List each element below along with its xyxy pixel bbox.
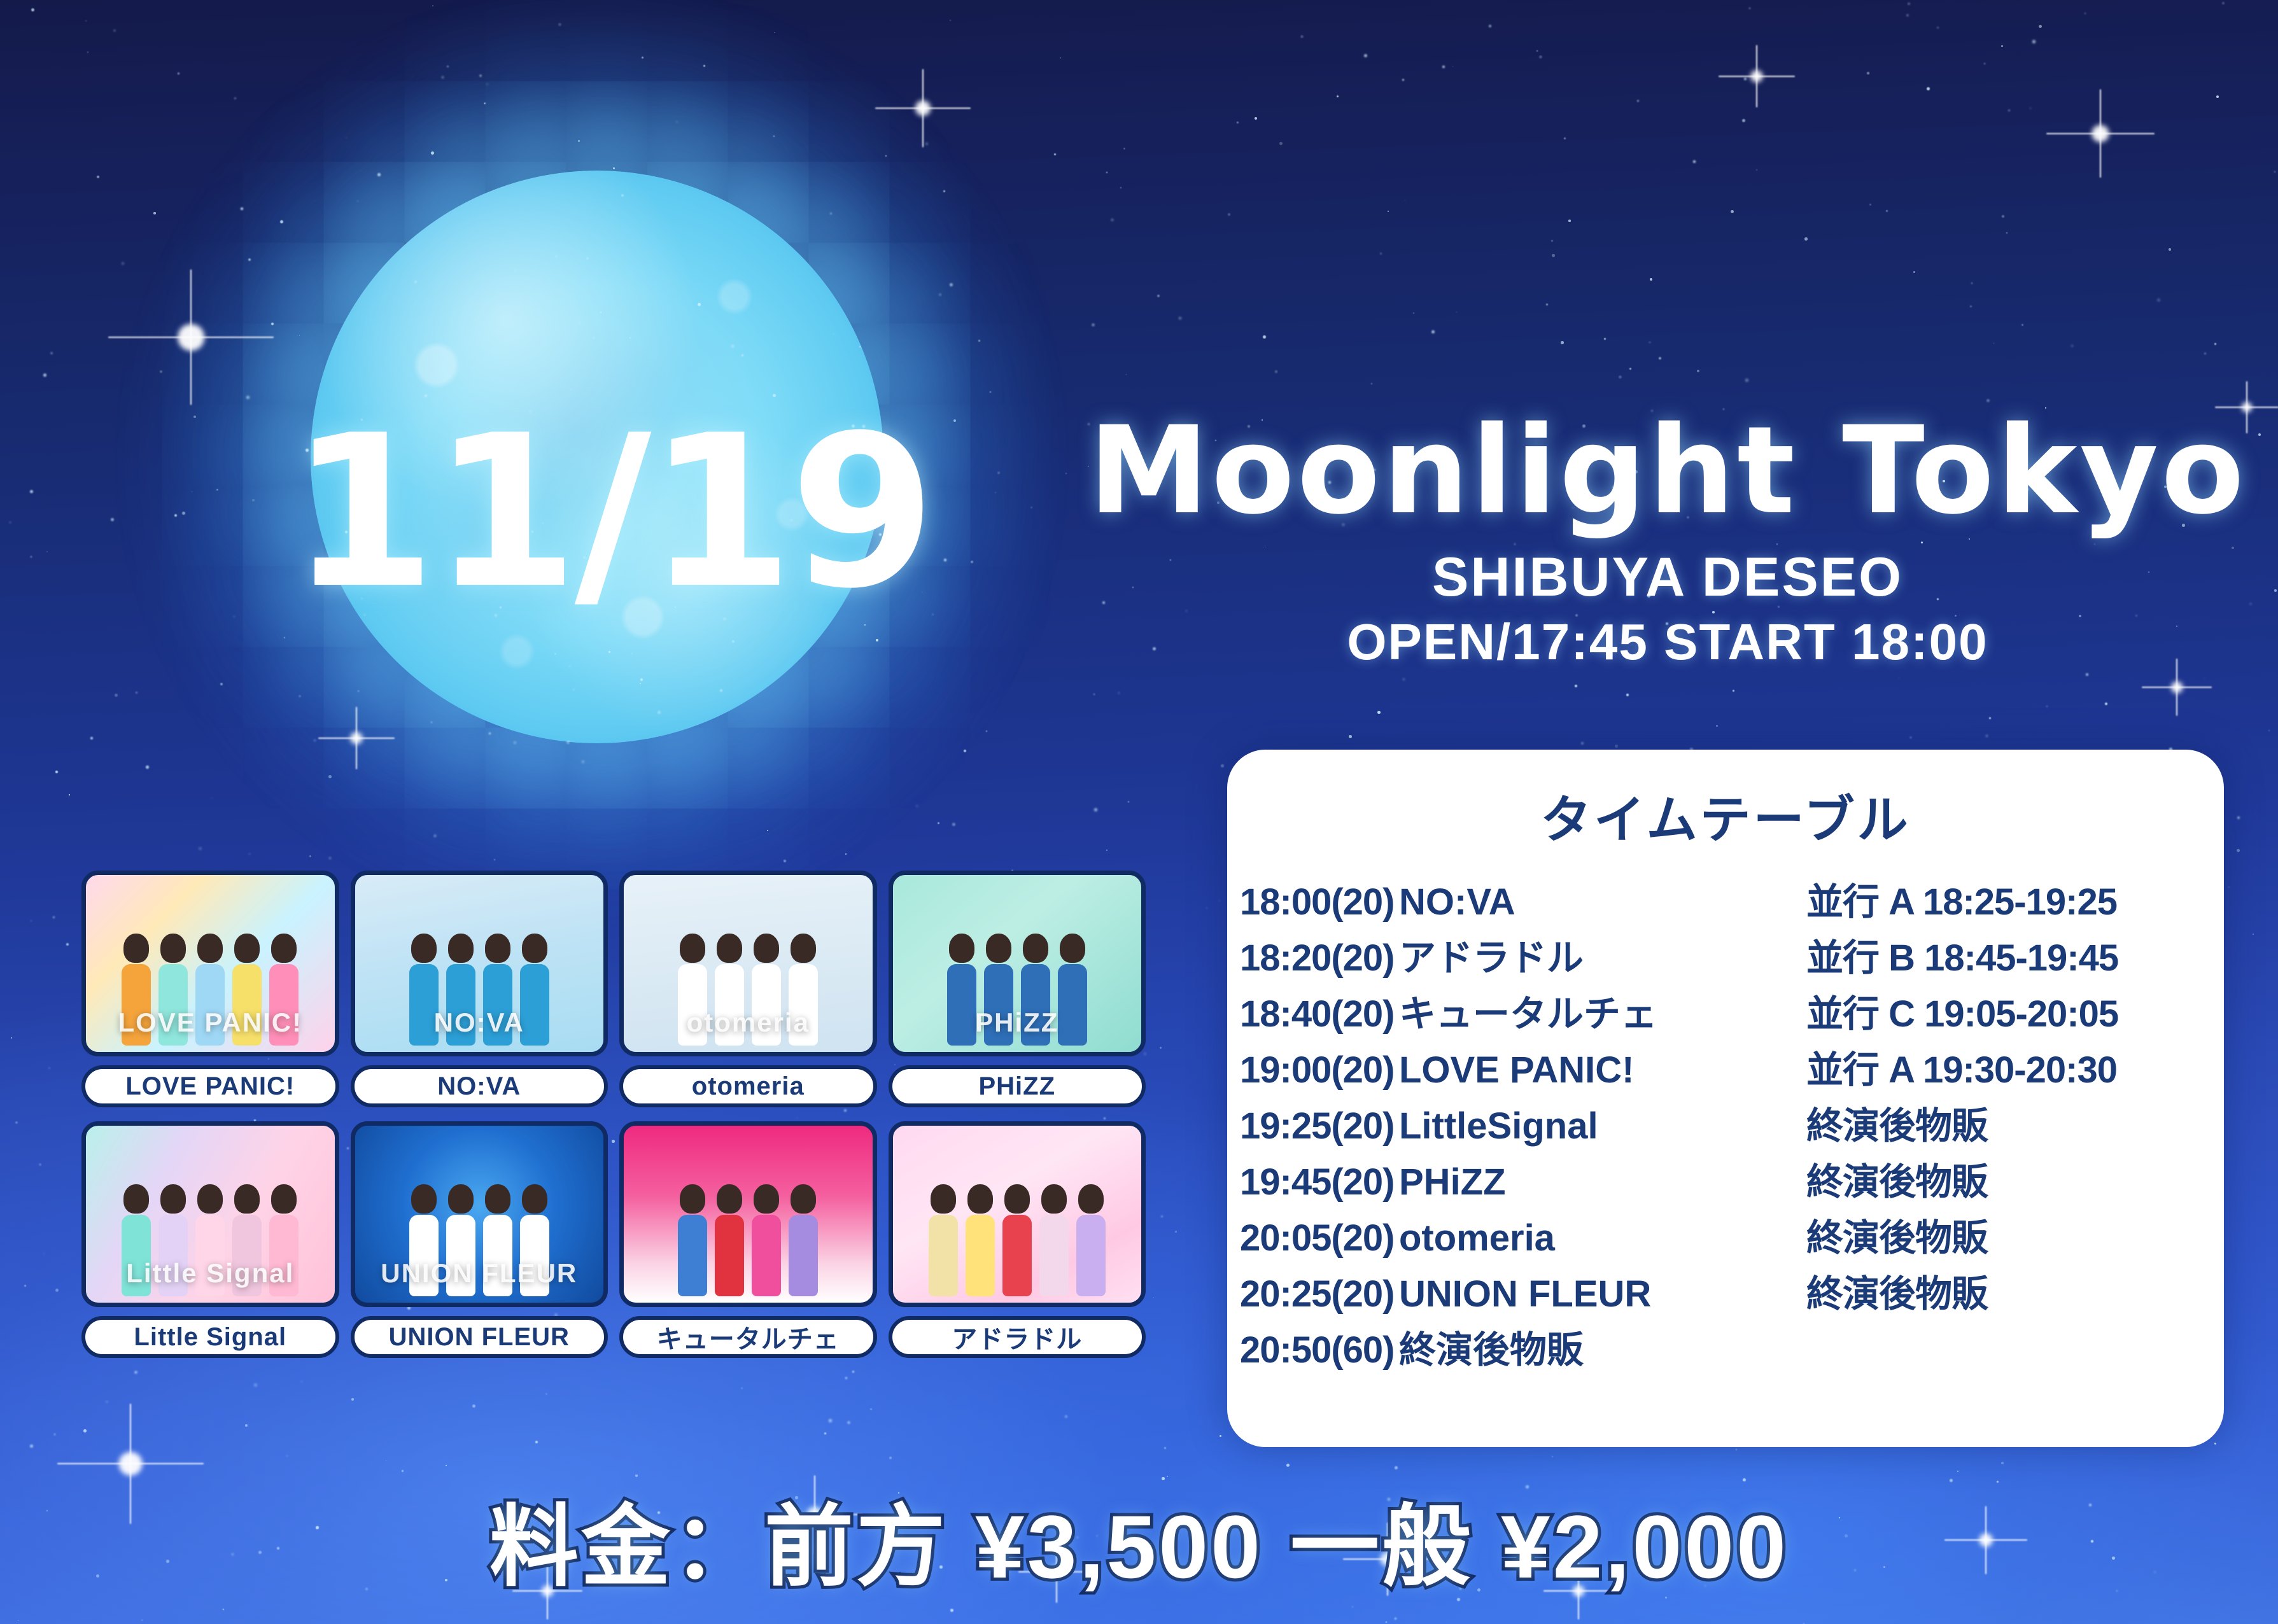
timetable-act: PHiZZ [1399,1161,1806,1203]
artist-logo: otomeria [624,1007,873,1052]
timetable-act: UNION FLEUR [1399,1273,1806,1315]
timetable-note: 並行 A 18:25-19:25 [1806,872,2224,925]
artist-photo: PHiZZ [889,871,1146,1056]
member-figure [1039,1184,1069,1296]
timetable-note: 並行 C 19:05-20:05 [1806,984,2224,1037]
artist-card: PHiZZPHiZZ [889,871,1146,1107]
timetable-act: LOVE PANIC! [1399,1049,1806,1091]
artist-name-label: LOVE PANIC! [81,1065,339,1107]
artist-card: Little SignalLittle Signal [81,1121,339,1358]
artist-card: アドラドル [889,1121,1146,1358]
artist-grid: LOVE PANIC!LOVE PANIC!NO:VANO:VAotomeria… [81,871,1146,1358]
price-line: 料金：前方 ¥3,500 一般 ¥2,000 [0,1475,2278,1604]
timetable-time: 20:50(60) [1240,1329,1399,1371]
timetable-note: 終演後物販 [1806,1264,2224,1317]
timetable-act: アドラドル [1399,928,1806,981]
timetable-time: 18:00(20) [1240,881,1399,923]
artist-members [893,1184,1142,1296]
timetable-act: NO:VA [1399,881,1806,923]
timetable-heading: タイムテーブル [1227,779,2224,853]
timetable-row: 18:00(20)NO:VA並行 A 18:25-19:25 [1227,872,2224,928]
artist-card: otomeriaotomeria [619,871,877,1107]
artist-members [624,1184,873,1296]
member-figure [715,1184,744,1296]
artist-photo: NO:VA [351,871,608,1056]
artist-card: LOVE PANIC!LOVE PANIC! [81,871,339,1107]
timetable-note: 終演後物販 [1806,1152,2224,1205]
event-date: 11/19 [255,407,967,617]
timetable-row: 19:25(20)LittleSignal終演後物販 [1227,1096,2224,1152]
timetable-time: 20:25(20) [1240,1273,1399,1315]
artist-card: UNION FLEURUNION FLEUR [351,1121,608,1358]
artist-logo: NO:VA [355,1007,604,1052]
artist-card: NO:VANO:VA [351,871,608,1107]
timetable-row: 18:20(20)アドラドル並行 B 18:45-19:45 [1227,928,2224,984]
member-figure [1002,1184,1032,1296]
member-figure [789,1184,818,1296]
member-figure [678,1184,707,1296]
member-figure [752,1184,781,1296]
timetable-note: 終演後物販 [1806,1096,2224,1149]
member-figure [966,1184,995,1296]
headline-block: Moonlight Tokyo SHIBUYA DESEO OPEN/17:45… [1069,407,2266,671]
timetable-note: 並行 A 19:30-20:30 [1806,1040,2224,1093]
timetable-row: 20:25(20)UNION FLEUR終演後物販 [1227,1264,2224,1320]
artist-photo: otomeria [619,871,877,1056]
member-figure [929,1184,958,1296]
timetable-row: 19:00(20)LOVE PANIC!並行 A 19:30-20:30 [1227,1040,2224,1096]
artist-logo: Little Signal [86,1258,335,1303]
artist-name-label: otomeria [619,1065,877,1107]
artist-logo: LOVE PANIC! [86,1007,335,1052]
artist-name-label: キュータルチェ [619,1316,877,1358]
timetable-act: LittleSignal [1399,1105,1806,1147]
timetable-note: 並行 B 18:45-19:45 [1806,928,2224,981]
artist-photo: LOVE PANIC! [81,871,339,1056]
timetable-time: 19:45(20) [1240,1161,1399,1203]
artist-logo: PHiZZ [893,1007,1142,1052]
timetable-panel: タイムテーブル 18:00(20)NO:VA並行 A 18:25-19:2518… [1227,750,2224,1447]
timetable-rows: 18:00(20)NO:VA並行 A 18:25-19:2518:20(20)ア… [1227,872,2224,1376]
timetable-row: 20:05(20)otomeria終演後物販 [1227,1208,2224,1264]
artist-photo [889,1121,1146,1307]
timetable-time: 19:25(20) [1240,1105,1399,1147]
timetable-row: 18:40(20)キュータルチェ並行 C 19:05-20:05 [1227,984,2224,1040]
artist-photo [619,1121,877,1307]
open-start-time: OPEN/17:45 START 18:00 [1069,613,2266,671]
artist-photo: UNION FLEUR [351,1121,608,1307]
timetable-act: 終演後物販 [1399,1320,1806,1373]
timetable-time: 20:05(20) [1240,1217,1399,1259]
artist-card: キュータルチェ [619,1121,877,1358]
artist-name-label: PHiZZ [889,1065,1146,1107]
venue-name: SHIBUYA DESEO [1069,546,2266,609]
member-figure [1076,1184,1106,1296]
timetable-time: 18:40(20) [1240,993,1399,1035]
timetable-act: キュータルチェ [1399,984,1806,1037]
event-flyer: 11/19 Moonlight Tokyo SHIBUYA DESEO OPEN… [0,0,2278,1624]
timetable-act: otomeria [1399,1217,1806,1259]
artist-name-label: NO:VA [351,1065,608,1107]
event-title: Moonlight Tokyo [1069,407,2266,535]
timetable-row: 20:50(60)終演後物販 [1227,1320,2224,1376]
artist-photo: Little Signal [81,1121,339,1307]
timetable-row: 19:45(20)PHiZZ終演後物販 [1227,1152,2224,1208]
artist-name-label: アドラドル [889,1316,1146,1358]
timetable-time: 18:20(20) [1240,937,1399,979]
artist-name-label: UNION FLEUR [351,1316,608,1358]
timetable-time: 19:00(20) [1240,1049,1399,1091]
timetable-note: 終演後物販 [1806,1208,2224,1261]
artist-name-label: Little Signal [81,1316,339,1358]
artist-logo: UNION FLEUR [355,1258,604,1303]
